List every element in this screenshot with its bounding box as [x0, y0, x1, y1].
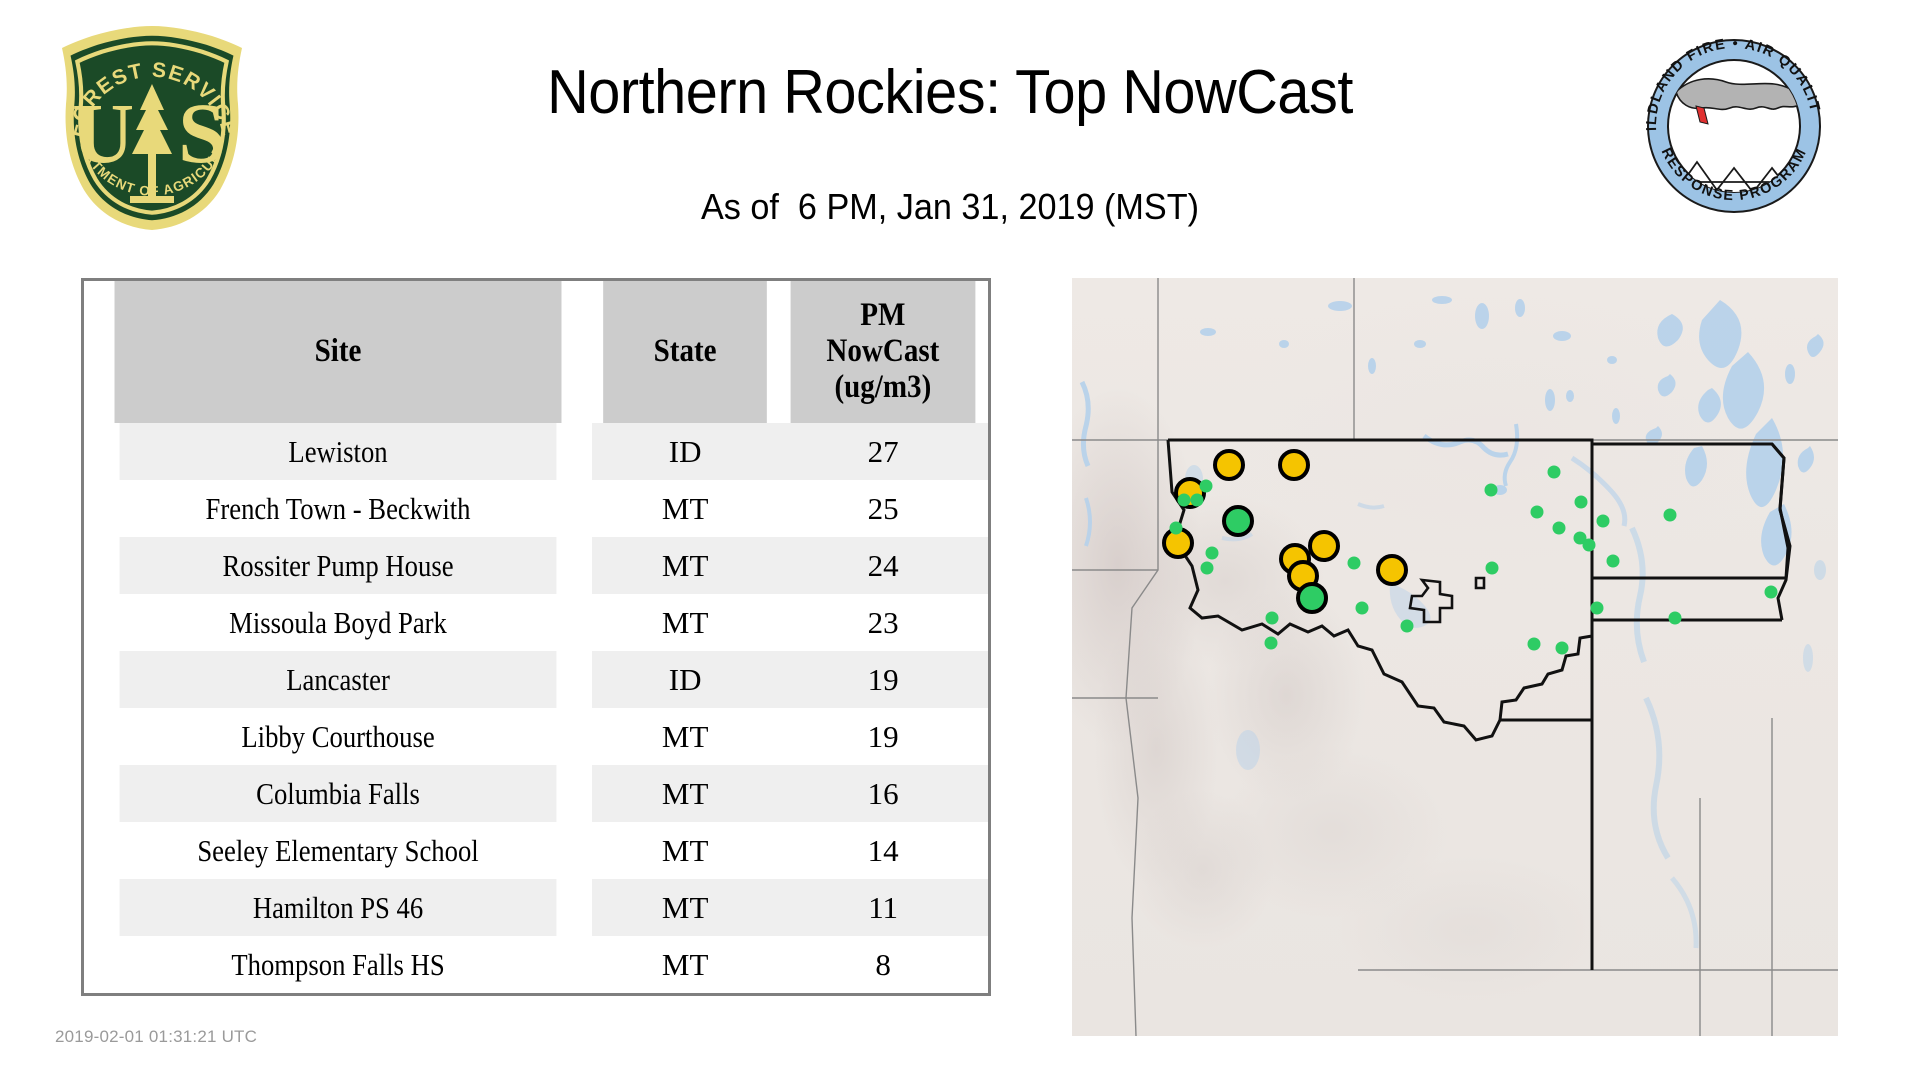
- page-subtitle: As of 6 PM, Jan 31, 2019 (MST): [295, 186, 1606, 228]
- table-row: Seeley Elementary SchoolMT14: [84, 822, 988, 879]
- cell-site: Columbia Falls: [120, 765, 557, 822]
- table-row: Thompson Falls HSMT8: [84, 936, 988, 993]
- table-row: French Town - BeckwithMT25: [84, 480, 988, 537]
- map-marker-good[interactable]: [1401, 620, 1414, 633]
- cell-state: ID: [592, 423, 778, 480]
- table-row: Libby CourthouseMT19: [84, 708, 988, 765]
- cell-pm-nowcast: 11: [778, 879, 988, 936]
- cell-state: MT: [592, 765, 778, 822]
- wildland-fire-air-quality-logo: WILDLAND FIRE • AIR QUALITY RESPONSE PRO…: [1640, 32, 1828, 220]
- column-header-site: Site: [114, 281, 561, 423]
- cell-pm-nowcast: 23: [778, 594, 988, 651]
- column-header-pm-line2: NowCast: [794, 333, 972, 369]
- map-marker-good[interactable]: [1591, 602, 1604, 615]
- cell-site: Seeley Elementary School: [120, 822, 557, 879]
- map-marker-good[interactable]: [1191, 494, 1204, 507]
- timestamp: 2019-02-01 01:31:21 UTC: [55, 1027, 257, 1047]
- cell-pm-nowcast: 27: [778, 423, 988, 480]
- column-header-state: State: [603, 281, 767, 423]
- cell-pm-nowcast: 14: [778, 822, 988, 879]
- cell-pm-nowcast: 19: [778, 708, 988, 765]
- map-marker-good[interactable]: [1765, 586, 1778, 599]
- cell-site: Thompson Falls HS: [120, 936, 557, 993]
- cell-pm-nowcast: 25: [778, 480, 988, 537]
- column-header-site-label: Site: [315, 333, 362, 369]
- map-marker-good[interactable]: [1222, 505, 1254, 537]
- table-row: LewistonID27: [84, 423, 988, 480]
- map-marker-good[interactable]: [1348, 557, 1361, 570]
- map-marker-good[interactable]: [1265, 637, 1278, 650]
- map-marker-moderate[interactable]: [1278, 449, 1310, 481]
- map-marker-good[interactable]: [1485, 484, 1498, 497]
- column-header-pm-nowcast: PM NowCast (ug/m3): [791, 281, 976, 423]
- map-marker-good[interactable]: [1170, 522, 1183, 535]
- table-row: Columbia FallsMT16: [84, 765, 988, 822]
- map-markers-layer: [1072, 278, 1838, 1036]
- map-marker-moderate[interactable]: [1376, 554, 1408, 586]
- map-marker-good[interactable]: [1669, 612, 1682, 625]
- table-row: Rossiter Pump HouseMT24: [84, 537, 988, 594]
- map-marker-good[interactable]: [1201, 562, 1214, 575]
- map-marker-good[interactable]: [1531, 506, 1544, 519]
- usfs-shield-logo: FOREST SERVICE DEPARTMENT OF AGRICULTURE…: [52, 22, 252, 234]
- cell-state: MT: [592, 480, 778, 537]
- map-marker-moderate[interactable]: [1308, 530, 1340, 562]
- cell-site: Lewiston: [120, 423, 557, 480]
- map-marker-good[interactable]: [1266, 612, 1279, 625]
- column-header-pm-line3: (ug/m3): [794, 369, 972, 405]
- column-header-pm-line1: PM: [794, 297, 972, 333]
- map-marker-good[interactable]: [1486, 562, 1499, 575]
- cell-pm-nowcast: 19: [778, 651, 988, 708]
- cell-site: Libby Courthouse: [120, 708, 557, 765]
- nowcast-table: Site State PM NowCast (ug/m3) LewistonID…: [81, 278, 991, 996]
- svg-text:S: S: [178, 85, 226, 181]
- page-title: Northern Rockies: Top NowCast: [308, 58, 1591, 128]
- cell-state: MT: [592, 879, 778, 936]
- table-row: Missoula Boyd ParkMT23: [84, 594, 988, 651]
- cell-site: Missoula Boyd Park: [120, 594, 557, 651]
- map-marker-good[interactable]: [1528, 638, 1541, 651]
- cell-state: MT: [592, 822, 778, 879]
- map-marker-moderate[interactable]: [1213, 449, 1245, 481]
- map-marker-good[interactable]: [1664, 509, 1677, 522]
- cell-pm-nowcast: 24: [778, 537, 988, 594]
- table-header-row: Site State PM NowCast (ug/m3): [84, 281, 988, 423]
- map-marker-good[interactable]: [1583, 539, 1596, 552]
- table-row: Hamilton PS 46MT11: [84, 879, 988, 936]
- cell-pm-nowcast: 8: [778, 936, 988, 993]
- cell-site: Lancaster: [120, 651, 557, 708]
- cell-site: French Town - Beckwith: [120, 480, 557, 537]
- cell-site: Rossiter Pump House: [120, 537, 557, 594]
- cell-pm-nowcast: 16: [778, 765, 988, 822]
- map-marker-good[interactable]: [1556, 642, 1569, 655]
- cell-state: MT: [592, 936, 778, 993]
- map-panel[interactable]: [1072, 278, 1838, 1036]
- map-marker-good[interactable]: [1178, 494, 1191, 507]
- map-marker-good[interactable]: [1296, 582, 1328, 614]
- map-marker-good[interactable]: [1553, 522, 1566, 535]
- cell-state: MT: [592, 708, 778, 765]
- cell-state: MT: [592, 594, 778, 651]
- cell-state: MT: [592, 537, 778, 594]
- map-marker-good[interactable]: [1200, 480, 1213, 493]
- map-marker-good[interactable]: [1607, 555, 1620, 568]
- map-marker-good[interactable]: [1548, 466, 1561, 479]
- map-marker-good[interactable]: [1597, 515, 1610, 528]
- cell-site: Hamilton PS 46: [120, 879, 557, 936]
- cell-state: ID: [592, 651, 778, 708]
- column-header-state-label: State: [654, 333, 717, 369]
- map-marker-good[interactable]: [1206, 547, 1219, 560]
- svg-text:U: U: [72, 85, 134, 181]
- table-row: LancasterID19: [84, 651, 988, 708]
- map-marker-good[interactable]: [1356, 602, 1369, 615]
- map-marker-good[interactable]: [1575, 496, 1588, 509]
